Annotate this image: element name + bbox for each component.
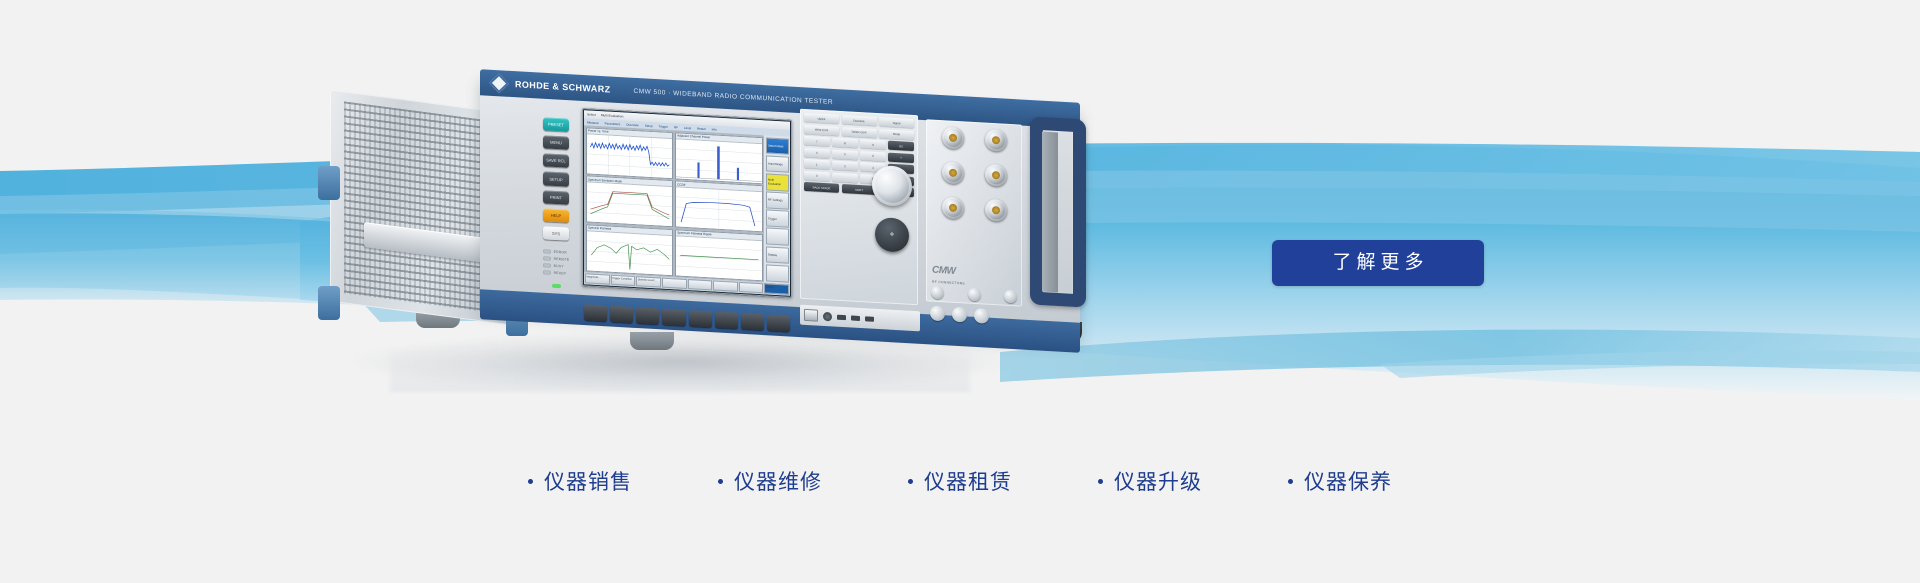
hero-banner: ROHDE & SCHWARZ CMW 500 · WIDEBAND RADIO…	[0, 0, 1920, 583]
aux-round-port-icon[interactable]	[823, 311, 832, 321]
rf-connector-row-2	[931, 161, 1017, 188]
service-link-label: 仪器租赁	[924, 466, 1012, 496]
rf-connector-1[interactable]	[942, 126, 964, 149]
lcd-tab-select[interactable]: Select	[587, 112, 596, 116]
learn-more-button[interactable]: 了解更多	[1272, 240, 1484, 286]
rf-connector-5[interactable]	[942, 196, 964, 219]
small-connector-1[interactable]	[931, 286, 944, 300]
plot-power-vs-time	[587, 134, 673, 178]
key-multiply[interactable]: x	[888, 152, 914, 162]
service-link-repair[interactable]: 仪器维修	[718, 466, 822, 496]
lcd-softkey-multi-eval[interactable]: Multi Evaluation	[766, 173, 789, 191]
panel-adjacent-channel-power: Adjacent Channel Power	[675, 132, 763, 184]
lcd-bottomkey-magnitude[interactable]: Magnitude ...	[585, 273, 610, 284]
lcd-softkey-blank-1[interactable]	[766, 228, 789, 246]
lcd-softkey-display[interactable]: Display	[766, 246, 789, 264]
lcd-menu-level[interactable]: Level	[684, 125, 691, 129]
service-links-row: 仪器销售 仪器维修 仪器租赁 仪器升级 仪器保养	[0, 466, 1920, 496]
key-4[interactable]: 4	[804, 147, 830, 157]
softkey-8[interactable]	[767, 314, 790, 331]
key-backspace-small[interactable]: BS	[888, 141, 914, 151]
key-downlink[interactable]: Downlink	[842, 115, 877, 126]
measurement-panel-grid: Power vs. Time	[584, 125, 764, 282]
lcd-menu-parameters[interactable]: Parameters	[605, 121, 621, 126]
softkey-4[interactable]	[662, 309, 685, 326]
key-7[interactable]: 7	[804, 136, 830, 146]
lcd-menu-setup[interactable]: Setup	[645, 123, 653, 127]
key-8[interactable]: 8	[832, 137, 858, 147]
bullet-icon	[1098, 479, 1103, 484]
service-link-label: 仪器维修	[734, 466, 822, 496]
led-busy: BUSY	[543, 263, 570, 268]
key-9[interactable]: 9	[860, 139, 886, 149]
service-link-maintenance[interactable]: 仪器保养	[1288, 466, 1392, 496]
lcd-menu-info[interactable]: Info	[712, 127, 717, 131]
instrument-reflection	[390, 346, 970, 392]
lan-port-icon[interactable]	[804, 309, 818, 322]
key-5[interactable]: 5	[832, 149, 858, 159]
key-signal[interactable]: Signal	[879, 117, 914, 128]
usb-port-icon-3[interactable]	[865, 316, 874, 322]
usb-port-icon-1[interactable]	[837, 314, 846, 320]
plot-sem	[587, 182, 673, 226]
bullet-icon	[908, 479, 913, 484]
help-key[interactable]: HELP	[543, 208, 569, 223]
plot-flatness	[587, 231, 673, 275]
model-label: CMW 500 · WIDEBAND RADIO COMMUNICATION T…	[634, 87, 834, 105]
lcd-menu-result[interactable]: Result	[697, 126, 706, 130]
bullet-icon	[528, 479, 533, 484]
front-carry-handle	[1030, 116, 1086, 307]
instrument-lcd-screen[interactable]: Select Multi Evaluation Measure Paramete…	[582, 108, 792, 298]
print-key[interactable]: PRINT	[543, 190, 569, 205]
status-led-group: ERROR REMOTE BUSY READY	[543, 249, 570, 275]
key-delete-conf[interactable]: Delete Conf	[842, 127, 877, 138]
aux-connector-2[interactable]	[952, 307, 967, 323]
lcd-bottomkey-blank-1[interactable]	[662, 278, 687, 289]
lcd-softkey-trigger[interactable]: Trigger	[766, 210, 789, 228]
rf-connector-4[interactable]	[985, 164, 1007, 187]
function-key-column: PRESET MENU SAVE RCL SETUP PRINT HELP SY…	[536, 113, 576, 311]
key-2[interactable]: 2	[832, 160, 858, 170]
power-indicator-led	[552, 284, 561, 288]
instrument-photo-cmw500: ROHDE & SCHWARZ CMW 500 · WIDEBAND RADIO…	[330, 70, 1090, 390]
service-link-rental[interactable]: 仪器租赁	[908, 466, 1012, 496]
panel-spectral-flatness: Spectral Flatness	[586, 224, 674, 276]
softkey-6[interactable]	[715, 312, 738, 329]
lcd-side-softkeys: Select Meas Auto Range Multi Evaluation …	[764, 135, 790, 283]
aux-connector-1[interactable]	[930, 305, 945, 321]
lcd-menu-rf[interactable]: RF	[674, 125, 678, 129]
lcd-softkey-select-meas[interactable]: Select Meas	[766, 137, 789, 155]
lcd-softkey-blank-2[interactable]	[766, 264, 789, 282]
service-link-label: 仪器升级	[1114, 466, 1202, 496]
led-error: ERROR	[543, 249, 570, 254]
key-back-space[interactable]: BACK SPACE	[804, 182, 839, 193]
module-logo: CMW	[932, 265, 956, 277]
lcd-bottomkey-config[interactable]: Config ...	[764, 283, 789, 294]
lcd-bottomkey-statistic[interactable]: Statistic Count ...	[636, 276, 661, 287]
rf-connector-3[interactable]	[942, 161, 964, 184]
brand-name: ROHDE & SCHWARZ	[515, 79, 611, 94]
small-connector-2[interactable]	[968, 288, 981, 302]
aux-connector-3[interactable]	[974, 308, 989, 324]
led-ready: READY	[543, 270, 570, 275]
softkey-7[interactable]	[741, 313, 764, 330]
bullet-icon	[718, 479, 723, 484]
usb-port-icon-2[interactable]	[851, 315, 860, 321]
rf-connector-row-1	[931, 126, 1017, 153]
softkey-3[interactable]	[636, 307, 659, 324]
lcd-bottomkey-blank-3[interactable]	[713, 280, 738, 291]
rf-connector-6[interactable]	[985, 199, 1007, 222]
service-link-label: 仪器保养	[1304, 466, 1392, 496]
rf-connector-row-3	[931, 196, 1017, 223]
instrument-foot-mid	[630, 332, 674, 350]
panel-spectrum-emission-mask: Spectrum Emission Mask	[586, 175, 674, 227]
plot-ccdf	[676, 187, 762, 231]
panel-power-vs-time: Power vs. Time	[586, 127, 674, 179]
lcd-bottomkey-blank-4[interactable]	[739, 282, 764, 293]
module-sublabel: RF CONNECTORS	[932, 280, 965, 286]
lcd-bottomkey-blank-2[interactable]	[688, 279, 713, 290]
navigation-dpad-icon[interactable]: ✥	[875, 217, 909, 253]
panel-spectrum-flatness-ripple: Spectrum Flatness Ripple	[675, 229, 763, 281]
preset-key[interactable]: PRESET	[543, 117, 569, 132]
service-link-sales[interactable]: 仪器销售	[528, 466, 632, 496]
sys-key[interactable]: SYS	[543, 226, 569, 241]
lcd-bottomkey-trigger[interactable]: Trigger Condition ...	[611, 275, 636, 286]
rohde-schwarz-logo-icon	[489, 73, 509, 93]
key-0[interactable]: 0	[804, 170, 830, 180]
lcd-menu-overview[interactable]: Overview	[626, 122, 639, 127]
key-dot[interactable]: .	[832, 172, 858, 182]
save-recall-key[interactable]: SAVE RCL	[543, 154, 569, 169]
service-link-label: 仪器销售	[544, 466, 632, 496]
service-link-upgrade[interactable]: 仪器升级	[1098, 466, 1202, 496]
handle-inner-bar	[1042, 132, 1058, 293]
lcd-softkey-auto-range[interactable]: Auto Range	[766, 155, 789, 173]
lcd-tab-multi-eval[interactable]: Multi Evaluation	[601, 113, 624, 118]
rf-connector-2[interactable]	[985, 129, 1007, 152]
rf-connector-panel: CMW RF CONNECTORS	[926, 119, 1022, 306]
softkey-2[interactable]	[610, 306, 633, 323]
corner-bumper-bottom-left	[318, 286, 340, 320]
small-connector-row	[931, 286, 1017, 304]
key-6[interactable]: 6	[860, 151, 886, 161]
lcd-menu-trigger[interactable]: Trigger	[659, 124, 668, 129]
softkey-1[interactable]	[584, 304, 607, 321]
key-uplink[interactable]: Uplink	[804, 113, 839, 124]
small-connector-3[interactable]	[1004, 290, 1017, 304]
panel-ccdf: CCDF	[675, 180, 763, 232]
key-1[interactable]: 1	[804, 159, 830, 169]
corner-bumper-top-left	[318, 166, 340, 200]
led-remote: REMOTE	[543, 256, 570, 261]
lcd-softkey-rf-settings[interactable]: RF Settings	[766, 191, 789, 209]
bullet-icon	[1288, 479, 1293, 484]
key-mode[interactable]: Mode	[879, 129, 914, 140]
lcd-menu-measure[interactable]: Measure	[587, 120, 599, 125]
key-write-conf[interactable]: Write Conf	[804, 124, 839, 135]
menu-key[interactable]: MENU	[543, 135, 569, 150]
plot-acp	[676, 139, 762, 183]
numeric-keypad-block: Uplink Downlink Signal Write Conf Delete…	[800, 109, 918, 306]
plot-ripple	[676, 236, 762, 280]
softkey-5[interactable]	[689, 310, 712, 327]
setup-key[interactable]: SETUP	[543, 172, 569, 187]
